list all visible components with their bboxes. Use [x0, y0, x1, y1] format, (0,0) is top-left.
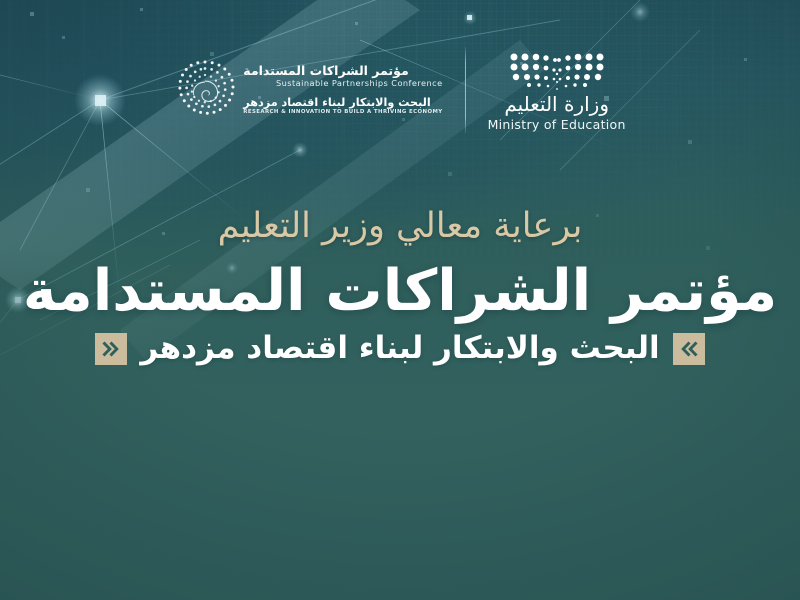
patronage-line: برعاية معالي وزير التعليم [0, 205, 800, 249]
conference-name-english: Sustainable Partnerships Conference [243, 79, 442, 87]
page-title: مؤتمر الشراكات المستدامة [0, 259, 800, 325]
chevrons-right-icon [95, 333, 127, 365]
ministry-name-arabic: وزارة التعليم [504, 94, 609, 115]
subtitle-row: البحث والابتكار لبناء اقتصاد مزدهر [0, 330, 800, 367]
subtitle: البحث والابتكار لبناء اقتصاد مزدهر [140, 330, 659, 367]
ministry-of-education-logo: وزارة التعليم Ministry of Education [488, 49, 626, 131]
chevrons-left-icon [673, 333, 705, 365]
conference-tagline-english: RESEARCH & INNOVATION TO BUILD A THRIVIN… [243, 110, 442, 115]
conference-tagline-arabic: البحث والابتكار لبناء اقتصاد مزدهر [243, 97, 442, 108]
conference-poster: وزارة التعليم Ministry of Education [0, 0, 800, 600]
logo-banner: وزارة التعليم Ministry of Education [0, 34, 800, 146]
ministry-name-english: Ministry of Education [488, 118, 626, 131]
conference-logo-text: مؤتمر الشراكات المستدامة Sustainable Par… [243, 65, 442, 115]
conference-logo: مؤتمر الشراكات المستدامة Sustainable Par… [174, 59, 442, 121]
logo-divider [465, 47, 466, 133]
conference-name-arabic: مؤتمر الشراكات المستدامة [243, 65, 442, 78]
saudi-palm-dots-emblem-icon [505, 49, 609, 91]
headline-block: برعاية معالي وزير التعليم مؤتمر الشراكات… [0, 205, 800, 367]
spiral-dot-mark-icon [174, 59, 236, 121]
